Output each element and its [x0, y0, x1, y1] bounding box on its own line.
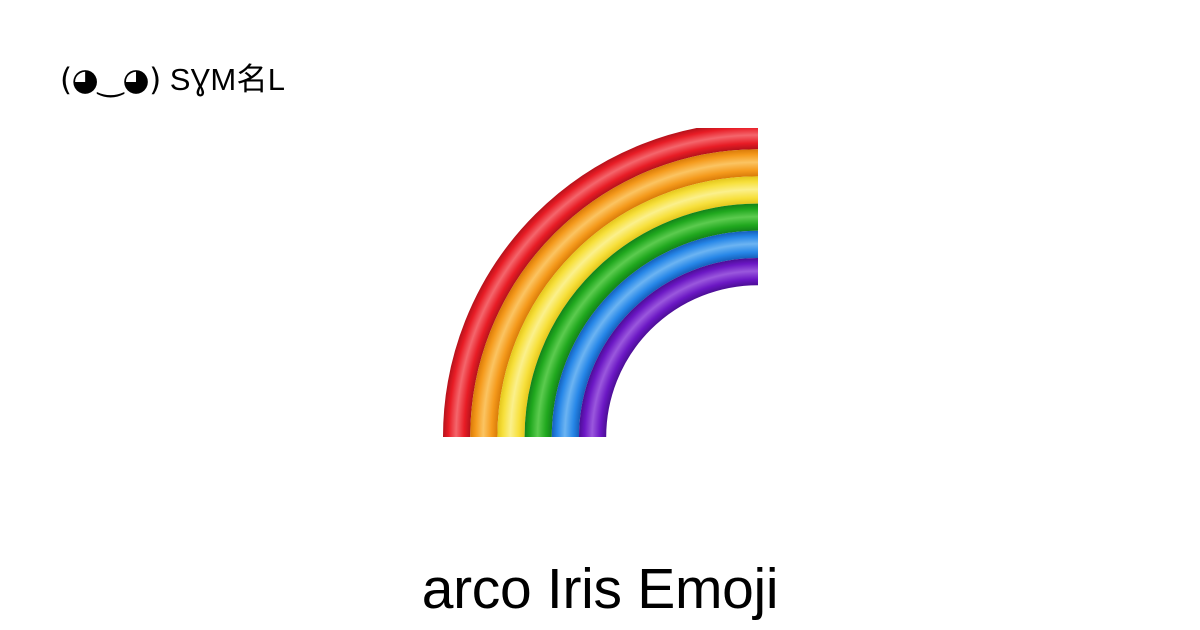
logo-wordmark-right: L — [268, 62, 286, 97]
logo-wordmark-cjk: 名 — [236, 62, 267, 98]
rainbow-emoji-icon — [442, 128, 758, 437]
logo-kaomoji-icon: (◕‿◕) — [60, 58, 161, 102]
site-logo[interactable]: (◕‿◕) SƔM名L — [60, 58, 285, 102]
logo-wordmark: SƔM名L — [170, 58, 286, 102]
emoji-stage — [442, 128, 758, 437]
page-title: arco Iris Emoji — [0, 554, 1200, 624]
logo-wordmark-left: SƔM — [170, 62, 237, 97]
